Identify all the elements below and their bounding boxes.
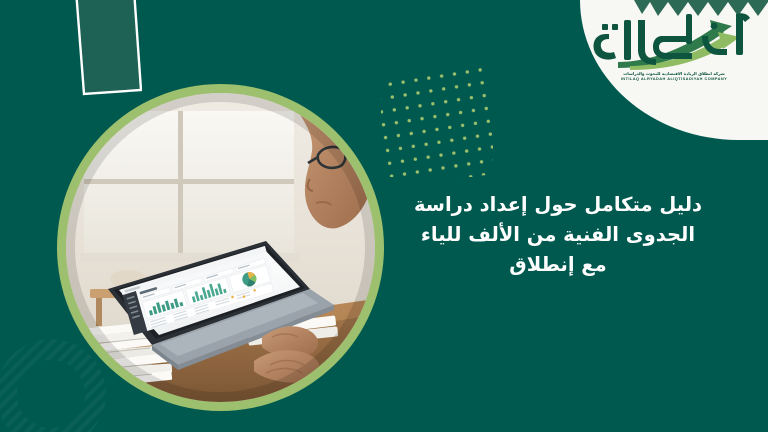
outlined-quadrilateral — [34, 0, 142, 98]
promo-banner: شركة انطلاق الريادة الاقتصادية للبحوث وا… — [0, 0, 768, 432]
hero-photo — [66, 93, 375, 402]
hero-photo-ring — [57, 84, 384, 411]
photo-illustration — [66, 93, 375, 402]
logo-wordmark-icon — [590, 8, 758, 70]
logo-subtitle-english: INTILAQ ALRYADAH ALIQTISADIYAH COMPANY — [621, 76, 727, 81]
headline-text: دليل متكامل حول إعداد دراسة الجدوى الفني… — [408, 190, 708, 281]
company-logo[interactable]: شركة انطلاق الريادة الاقتصادية للبحوث وا… — [586, 8, 762, 100]
dot-grid-pattern — [381, 62, 493, 177]
